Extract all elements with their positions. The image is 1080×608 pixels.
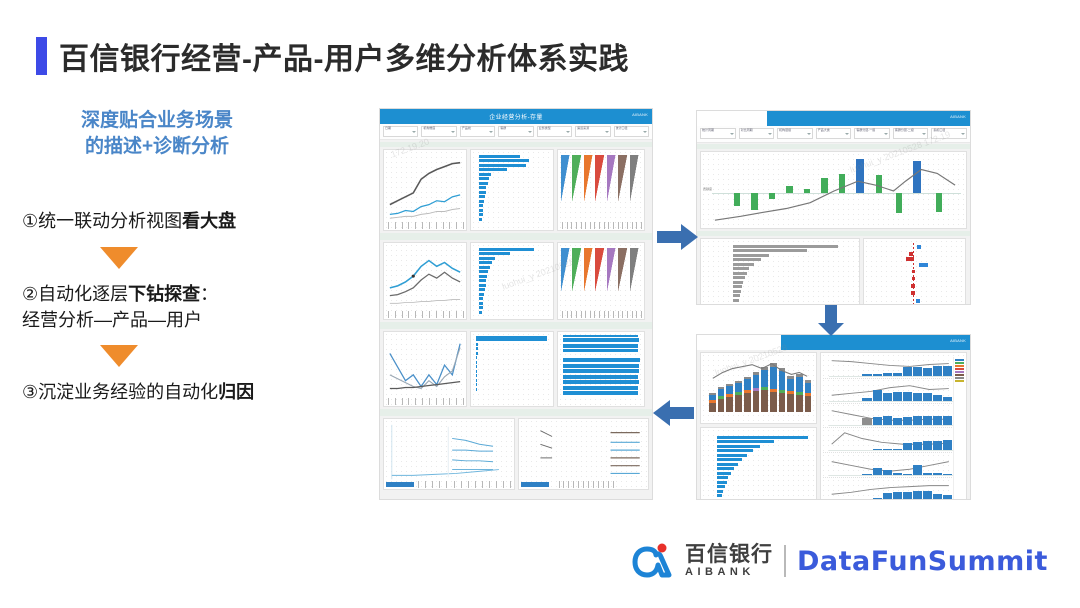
- mini-chart[interactable]: [823, 355, 964, 379]
- lead-statement: 深度贴合业务场景 的描述+诊断分析: [22, 108, 292, 160]
- filter-control[interactable]: 产品大类: [816, 128, 852, 139]
- step-item-3: ③沉淀业务经验的自动化归因: [22, 379, 362, 405]
- dashboard-chart-row: [380, 242, 652, 320]
- waterfall-combo-chart[interactable]: 贡献度: [700, 151, 967, 229]
- filter-label: 业务类型: [539, 126, 551, 130]
- step-2-emphasis: 下钻探查: [128, 284, 200, 304]
- bar-series: [862, 434, 962, 451]
- filter-label: 客群分层-二级: [895, 128, 914, 132]
- aibank-logo-icon: [632, 543, 674, 579]
- aibank-wordmark: 百信银行 AIBANK: [685, 544, 773, 578]
- step-item-1: ①统一联动分析视图看大盘: [22, 208, 362, 234]
- header-left-pad: [697, 335, 781, 350]
- step-3-prefix: ③沉淀业务经验的自动化: [22, 382, 218, 402]
- filter-label: 统计口径: [616, 126, 628, 130]
- series-band: [595, 248, 607, 306]
- line-series: [384, 243, 466, 319]
- series-band: [561, 248, 573, 306]
- line-series: [384, 419, 514, 489]
- filter-label: 产品线: [462, 126, 471, 130]
- chart-legend: [953, 357, 965, 500]
- line-series: [384, 150, 466, 230]
- triangle-down-icon-1: [100, 247, 138, 269]
- filter-control[interactable]: 统计周期: [700, 128, 736, 139]
- step-2-prefix: ②自动化逐层: [22, 284, 128, 304]
- dashboard-header-title: 企业经营分析-存量: [489, 112, 543, 121]
- footer-logos: 百信银行 AIBANK DataFunSummit: [632, 543, 1048, 579]
- axis-label: 贡献度: [703, 187, 712, 191]
- filter-control[interactable]: 统计口径: [614, 126, 649, 137]
- ranking-bar-chart[interactable]: [470, 149, 554, 231]
- series-band: [572, 248, 584, 306]
- filter-label: 客群分层-一级: [856, 128, 875, 132]
- multi-line-chart[interactable]: [383, 331, 467, 407]
- aibank-name-cn: 百信银行: [685, 544, 773, 565]
- filter-label: 统计周期: [702, 128, 714, 132]
- mini-chart[interactable]: [823, 479, 964, 500]
- filter-label: 产品大类: [818, 128, 830, 132]
- reference-line: [913, 243, 914, 305]
- bar-series: [717, 436, 811, 500]
- step-item-2: ②自动化逐层下钻探查：: [22, 281, 362, 307]
- bar-series: [733, 245, 853, 305]
- mini-chart[interactable]: [823, 405, 964, 429]
- filter-control[interactable]: 产品线: [460, 126, 495, 137]
- filter-control[interactable]: 客群分层-一级: [854, 128, 890, 139]
- arrow-left-icon: [653, 398, 695, 428]
- section-divider: [380, 409, 652, 416]
- dashboard-header-bar: 企业经营分析-存量 AIBANK: [380, 109, 652, 124]
- bar-series: [476, 336, 550, 401]
- series-band: [561, 155, 573, 216]
- deviation-scatter-chart[interactable]: [863, 238, 966, 305]
- filter-control[interactable]: 机构维度: [421, 126, 456, 137]
- bar-series: [862, 360, 962, 377]
- left-text-column: 深度贴合业务场景 的描述+诊断分析 ①统一联动分析视图看大盘 ②自动化逐层下钻探…: [22, 108, 362, 405]
- trend-line-overlay: [701, 353, 816, 423]
- line-series: [384, 332, 466, 406]
- dashboard-chart-row: [380, 331, 652, 407]
- series-band: [584, 155, 596, 216]
- section-divider: [380, 322, 652, 329]
- filter-control[interactable]: 日期: [383, 126, 418, 137]
- bar-series: [862, 484, 962, 500]
- section-divider: [697, 231, 970, 236]
- stacked-bar-line-chart[interactable]: [700, 352, 817, 424]
- series-band: [630, 155, 642, 216]
- dashboard-chart-row: [697, 350, 970, 500]
- triangle-down-icon-2: [100, 345, 138, 367]
- filter-control[interactable]: 渠道来源: [575, 126, 610, 137]
- filter-label: 对比周期: [741, 128, 753, 132]
- x-axis-ticks: [388, 222, 464, 229]
- page-title: 百信银行经营-产品-用户多维分析体系实践: [36, 34, 629, 78]
- dashboard-chart-row: 贡献度: [697, 151, 970, 229]
- arrow-down-glyph: [816, 305, 846, 337]
- bar-series: [479, 155, 550, 225]
- step-1-emphasis: 看大盘: [182, 211, 236, 231]
- arrow-right-glyph: [657, 222, 699, 252]
- aibank-name-en: AIBANK: [685, 567, 773, 578]
- dashboard-user-attribution-screenshot[interactable]: AIBANK: [696, 334, 971, 500]
- x-axis-ticks: [388, 311, 464, 318]
- step-3-emphasis: 归因: [218, 382, 254, 402]
- lead-line-1: 深度贴合业务场景: [22, 108, 292, 134]
- trend-line-overlay: [701, 152, 966, 228]
- arrow-left-glyph: [653, 398, 695, 428]
- series-band: [572, 155, 584, 216]
- dashboard-brand-logo: AIBANK: [950, 114, 966, 119]
- line-series: [519, 419, 649, 489]
- detail-line-chart[interactable]: [518, 418, 650, 490]
- filter-control[interactable]: 客群分层-二级: [893, 128, 929, 139]
- mini-chart[interactable]: [823, 380, 964, 404]
- filter-label: 机构层级: [779, 128, 791, 132]
- single-bar-chart[interactable]: [470, 331, 554, 407]
- trend-line-chart[interactable]: [383, 149, 467, 231]
- bar-series: [479, 248, 550, 315]
- x-axis-ticks: [388, 398, 464, 405]
- section-divider: [380, 142, 652, 147]
- series-band: [618, 155, 630, 216]
- table-bars-chart[interactable]: [557, 331, 645, 407]
- trend-line-chart[interactable]: [383, 242, 467, 320]
- filter-label: 机构维度: [423, 126, 435, 130]
- logo-divider: [784, 545, 786, 577]
- cohort-area-chart[interactable]: [557, 242, 645, 320]
- dashboard-filter-bar[interactable]: 日期 机构维度 产品线 客群 业务类型 渠道来源 统计口径: [380, 124, 652, 140]
- cohort-area-chart[interactable]: [557, 149, 645, 231]
- series-band: [584, 248, 596, 306]
- arrow-down-icon: [816, 305, 846, 337]
- dashboard-overview-screenshot[interactable]: 企业经营分析-存量 AIBANK 日期 机构维度 产品线 客群 业务类型 渠道来…: [379, 108, 653, 500]
- step-2-suffix: ：: [200, 284, 218, 304]
- x-axis-ticks: [418, 481, 512, 488]
- filter-control[interactable]: 指标口径: [931, 128, 967, 139]
- filter-control[interactable]: 对比周期: [739, 128, 775, 139]
- chart-grid: [823, 355, 964, 500]
- filter-label: 客群: [500, 126, 506, 130]
- dashboard-product-drilldown-screenshot[interactable]: AIBANK 统计周期 对比周期 机构层级 产品大类 客群分层-一级 客群分层-…: [696, 110, 971, 305]
- detail-line-chart[interactable]: [383, 418, 515, 490]
- series-band: [595, 155, 607, 216]
- section-divider: [697, 144, 970, 149]
- datafunsummit-wordmark: DataFunSummit: [797, 546, 1048, 577]
- scatter-series: [864, 239, 965, 305]
- filter-label: 日期: [385, 126, 391, 130]
- header-left-pad: [697, 111, 767, 126]
- bar-series: [862, 459, 962, 476]
- gray-ranking-bar-chart[interactable]: [700, 238, 860, 305]
- x-axis-ticks: [562, 222, 642, 229]
- section-divider: [380, 233, 652, 240]
- small-multiples-grid[interactable]: [820, 352, 967, 500]
- filter-control[interactable]: 业务类型: [537, 126, 572, 137]
- ranking-bar-chart[interactable]: [470, 242, 554, 320]
- lead-line-2: 的描述+诊断分析: [22, 134, 292, 160]
- series-band: [630, 248, 642, 306]
- bar-series: [563, 335, 642, 402]
- series-band: [607, 155, 619, 216]
- filter-label: 指标口径: [933, 128, 945, 132]
- step-item-2-detail: 经营分析—产品—用户: [22, 307, 362, 333]
- mini-chart[interactable]: [823, 429, 964, 453]
- area-series: [561, 155, 642, 216]
- dashboard-brand-logo: AIBANK: [632, 112, 648, 117]
- x-axis-ticks: [559, 481, 615, 488]
- series-band: [618, 248, 630, 306]
- dashboard-filter-bar[interactable]: 统计周期 对比周期 机构层级 产品大类 客群分层-一级 客群分层-二级 指标口径: [697, 126, 970, 143]
- dashboard-chart-row: [380, 149, 652, 231]
- dashboard-chart-row: [380, 418, 652, 490]
- step-1-prefix: ①统一联动分析视图: [22, 211, 182, 231]
- title-accent-bar: [36, 37, 47, 75]
- area-series: [561, 248, 642, 306]
- x-axis-ticks: [562, 311, 642, 318]
- dashboard-brand-logo: AIBANK: [950, 338, 966, 343]
- bar-series: [862, 409, 962, 426]
- series-band: [607, 248, 619, 306]
- arrow-right-icon: [657, 222, 699, 252]
- bar-series: [862, 384, 962, 401]
- mini-chart[interactable]: [823, 454, 964, 478]
- step-list: ①统一联动分析视图看大盘 ②自动化逐层下钻探查： 经营分析—产品—用户 ③沉淀业…: [22, 208, 362, 404]
- filter-control[interactable]: 客群: [498, 126, 533, 137]
- dashboard-chart-row: [697, 238, 970, 305]
- aibank-alpha-glyph: [632, 543, 674, 579]
- dashboard-header-bar: AIBANK: [697, 111, 970, 126]
- ranking-bar-chart[interactable]: [700, 427, 817, 500]
- filter-control[interactable]: 机构层级: [777, 128, 813, 139]
- title-text: 百信银行经营-产品-用户多维分析体系实践: [59, 34, 629, 78]
- dashboard-header-bar: AIBANK: [697, 335, 970, 350]
- filter-label: 渠道来源: [577, 126, 589, 130]
